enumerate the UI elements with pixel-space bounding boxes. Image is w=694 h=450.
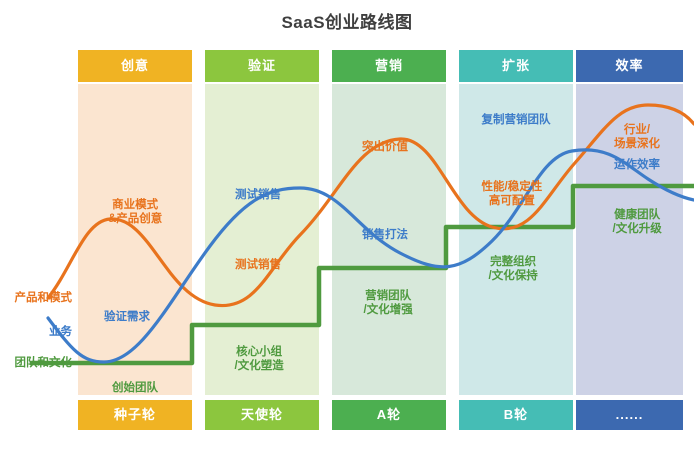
note-line: /文化塑造 [235, 359, 284, 373]
note-ideation-green: 创始团队 [112, 381, 158, 395]
note-line: 销售打法 [362, 228, 408, 242]
stage-column-expansion: 扩张B轮 [459, 50, 573, 430]
note-expansion-green: 完整组织/文化保持 [489, 255, 538, 283]
note-efficiency-green: 健康团队/文化升级 [613, 208, 662, 236]
note-efficiency-orange: 行业/场景深化 [614, 123, 660, 151]
note-line: 验证需求 [104, 310, 150, 324]
stage-column-ideation: 创意种子轮 [78, 50, 192, 430]
note-line: 高可配置 [482, 194, 543, 208]
note-efficiency-blue: 运作效率 [614, 158, 660, 172]
note-line: 核心小组 [235, 345, 284, 359]
note-validation-blue: 测试销售 [235, 188, 281, 202]
note-ideation-blue: 验证需求 [104, 310, 150, 324]
note-marketing-blue: 销售打法 [362, 228, 408, 242]
funding-round-validation[interactable]: 天使轮 [205, 400, 319, 430]
note-line: 营销团队 [364, 289, 413, 303]
note-line: 测试销售 [235, 258, 281, 272]
axis-label-1: 业务 [49, 323, 72, 339]
note-line: 突出价值 [362, 140, 408, 154]
note-line: 复制营销团队 [482, 113, 551, 127]
stage-header-ideation[interactable]: 创意 [78, 50, 192, 82]
stage-header-expansion[interactable]: 扩张 [459, 50, 573, 82]
note-line: 健康团队 [613, 208, 662, 222]
note-validation-orange: 测试销售 [235, 258, 281, 272]
funding-round-marketing[interactable]: A轮 [332, 400, 446, 430]
note-line: /文化保持 [489, 269, 538, 283]
note-expansion-blue: 复制营销团队 [482, 113, 551, 127]
stage-band-ideation [78, 84, 192, 395]
stage-band-expansion [459, 84, 573, 395]
note-line: 完整组织 [489, 255, 538, 269]
note-line: 商业模式 [108, 198, 162, 212]
funding-round-ideation[interactable]: 种子轮 [78, 400, 192, 430]
note-expansion-orange: 性能/稳定性高可配置 [482, 180, 543, 208]
note-line: /文化增强 [364, 303, 413, 317]
note-marketing-green: 营销团队/文化增强 [364, 289, 413, 317]
funding-round-efficiency[interactable]: ...... [576, 400, 683, 430]
stage-header-marketing[interactable]: 营销 [332, 50, 446, 82]
note-ideation-orange: 商业模式&产品创意 [108, 198, 162, 226]
note-line: /文化升级 [613, 222, 662, 236]
stage-header-efficiency[interactable]: 效率 [576, 50, 683, 82]
note-line: 行业/ [614, 123, 660, 137]
stage-column-efficiency: 效率...... [576, 50, 683, 430]
axis-label-0: 产品和模式 [15, 289, 73, 305]
stage-header-validation[interactable]: 验证 [205, 50, 319, 82]
note-marketing-orange: 突出价值 [362, 140, 408, 154]
funding-round-expansion[interactable]: B轮 [459, 400, 573, 430]
note-line: 测试销售 [235, 188, 281, 202]
note-line: 性能/稳定性 [482, 180, 543, 194]
axis-label-2: 团队和文化 [15, 354, 73, 370]
note-line: 创始团队 [112, 381, 158, 395]
note-line: 运作效率 [614, 158, 660, 172]
note-validation-green: 核心小组/文化塑造 [235, 345, 284, 373]
stage-column-validation: 验证天使轮 [205, 50, 319, 430]
note-line: &产品创意 [108, 212, 162, 226]
note-line: 场景深化 [614, 137, 660, 151]
page-title: SaaS创业路线图 [0, 8, 694, 33]
